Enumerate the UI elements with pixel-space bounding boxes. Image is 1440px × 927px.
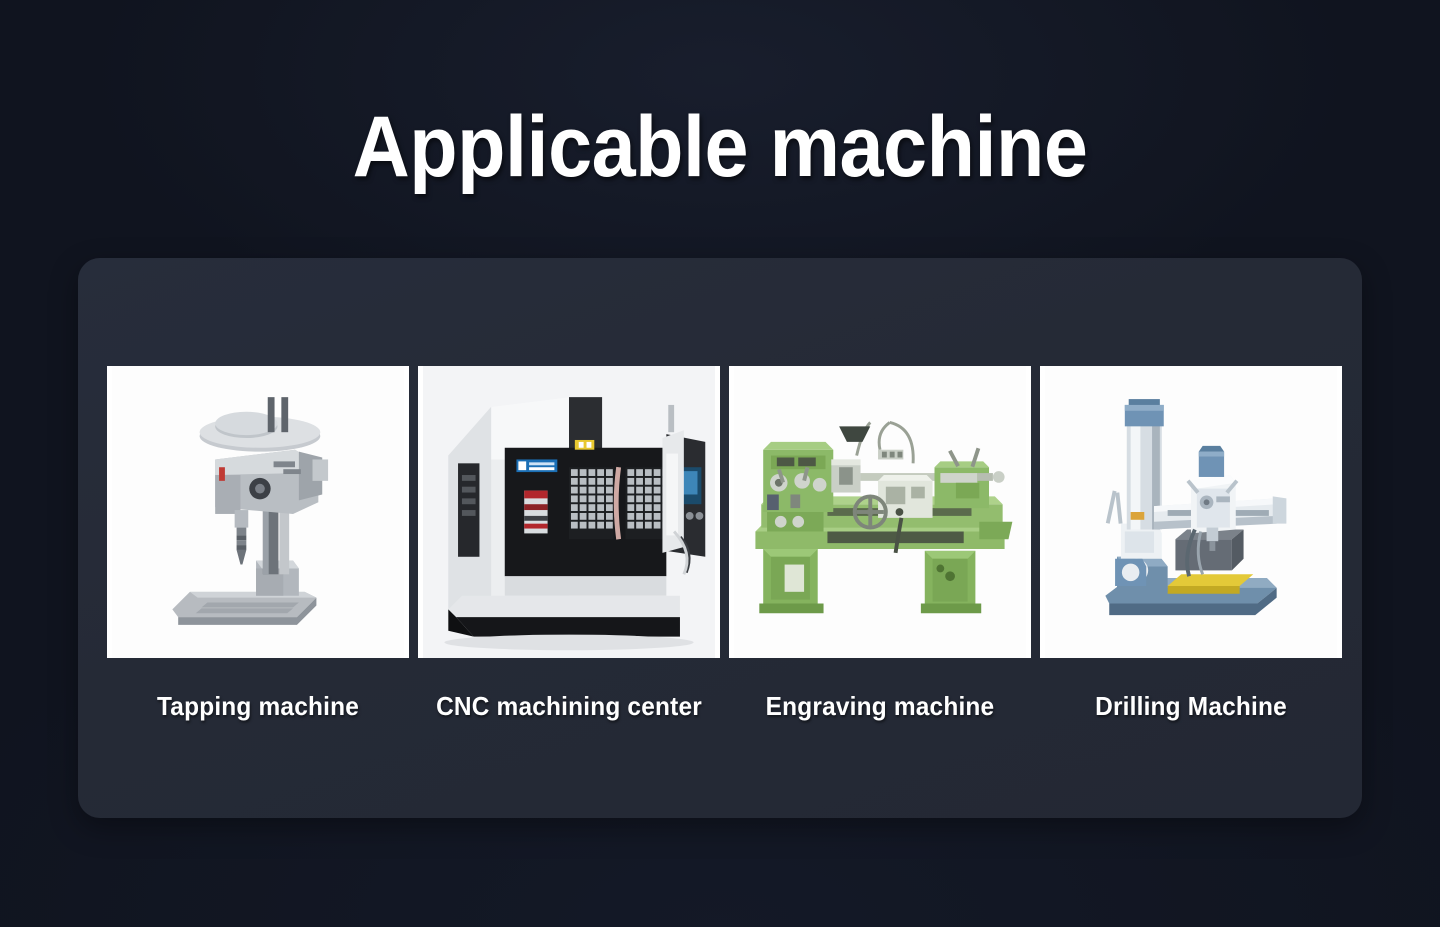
engraving-machine-photo [729, 366, 1031, 658]
page-title: Applicable machine [58, 104, 1383, 190]
caption-cnc-machining-center: CNC machining center [427, 691, 711, 722]
machine-tile-drilling-machine[interactable] [1040, 366, 1342, 658]
caption-drilling-machine: Drilling Machine [1049, 691, 1333, 722]
caption-engraving-machine: Engraving machine [738, 691, 1022, 722]
tapping-machine-photo [107, 366, 409, 658]
applicable-machine-panel: Tapping machine CNC machining center Eng… [78, 258, 1362, 818]
machine-tile-cnc-machining-center[interactable] [418, 366, 720, 658]
cnc-machining-center-photo [418, 366, 720, 658]
caption-tapping-machine: Tapping machine [116, 691, 400, 722]
drilling-machine-photo [1040, 366, 1342, 658]
machine-caption-row: Tapping machine CNC machining center Eng… [107, 691, 1342, 722]
machine-tile-tapping-machine[interactable] [107, 366, 409, 658]
machine-image-grid [107, 366, 1342, 658]
machine-tile-engraving-machine[interactable] [729, 366, 1031, 658]
